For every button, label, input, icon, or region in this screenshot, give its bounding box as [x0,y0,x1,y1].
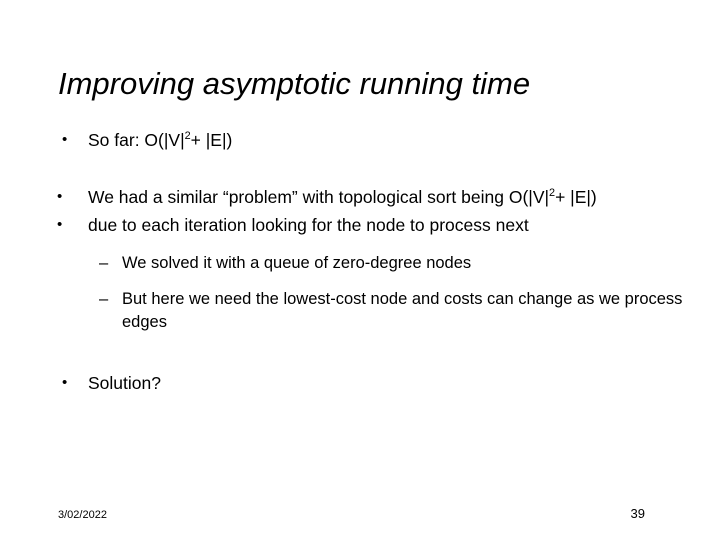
bullet-text: We had a similar “problem” with topologi… [88,187,597,207]
slide-canvas: Improving asymptotic running time • So f… [0,0,720,540]
bullet-text: Solution? [88,373,161,393]
slide-body: • So far: O(|V|2+ |E|) • We had a simila… [0,126,720,397]
bullet-marker-icon: • [62,369,67,397]
bullet-text-tail: + |E|) [555,187,597,207]
footer-date: 3/02/2022 [58,508,107,522]
bullet-item-so-far: • So far: O(|V|2+ |E|) [0,126,720,154]
bullet-text: So far: O(|V|2+ |E|) [88,130,232,150]
bullet-item-solution: • Solution? [0,369,720,397]
vertical-spacer [0,334,720,369]
bullet-text-tail: + |E|) [191,130,233,150]
sub-bullet-text: But here we need the lowest-cost node an… [122,290,682,331]
footer-page-number: 39 [631,506,645,522]
sub-bullet-item-queue-solution: – We solved it with a queue of zero-degr… [0,252,720,275]
dash-marker-icon: – [99,288,108,311]
bullet-item-each-iteration: • due to each iteration looking for the … [0,211,720,239]
bullet-marker-icon: • [57,211,62,239]
sub-bullet-item-lowest-cost: – But here we need the lowest-cost node … [0,288,720,334]
dash-marker-icon: – [99,252,108,275]
bullet-text-main: We had a similar “problem” with topologi… [88,187,549,207]
sub-bullet-text: We solved it with a queue of zero-degree… [122,254,471,272]
vertical-spacer [0,239,720,252]
page-title: Improving asymptotic running time [58,66,678,102]
bullet-text: due to each iteration looking for the no… [88,215,529,235]
bullet-text-main: So far: O(|V| [88,130,185,150]
bullet-marker-icon: • [57,183,62,211]
vertical-spacer [0,154,720,183]
bullet-item-topological-sort: • We had a similar “problem” with topolo… [0,183,720,211]
vertical-spacer [0,275,720,288]
bullet-marker-icon: • [62,126,67,154]
